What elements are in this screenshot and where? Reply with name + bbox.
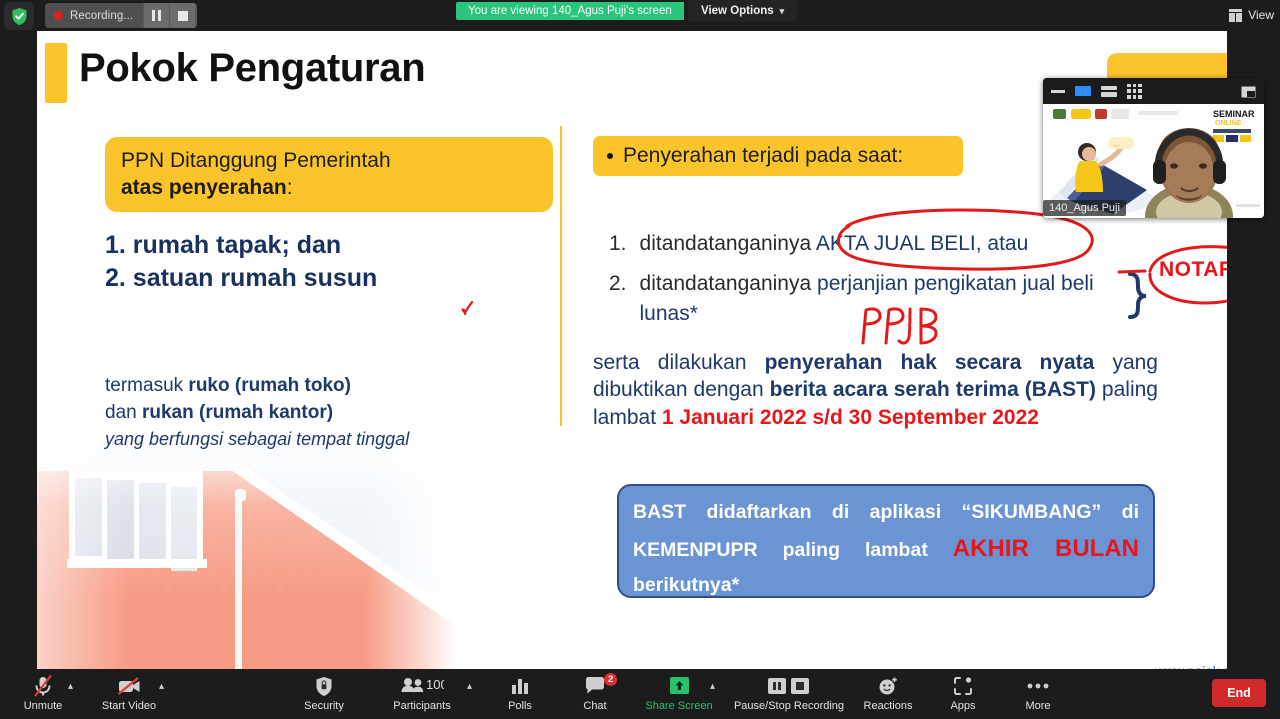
toolbar-unmute-button[interactable]: Unmute bbox=[0, 673, 86, 712]
left-callout-line2: atas penyerahan: bbox=[121, 174, 537, 201]
toolbar-unmute-label: Unmute bbox=[24, 700, 63, 712]
apps-icon bbox=[952, 673, 974, 699]
right-callout-heading: Penyerahan terjadi pada saat: bbox=[623, 144, 903, 168]
toolbar-start-video-label: Start Video bbox=[102, 700, 156, 712]
view-options-button[interactable]: View Options ▾ bbox=[688, 0, 797, 22]
pause-icon bbox=[152, 10, 161, 21]
item-text-blue: AKTA JUAL BELI, atau bbox=[816, 232, 1028, 255]
pause-stop-icon bbox=[767, 673, 811, 699]
bullet-icon bbox=[607, 153, 613, 159]
gallery-two-icon[interactable] bbox=[1101, 86, 1117, 97]
smiley-plus-icon bbox=[877, 673, 899, 699]
top-bar: Recording... You are viewing 140_Agus Pu… bbox=[0, 0, 1280, 31]
item-number: 1. bbox=[609, 229, 627, 259]
left-callout-line1: PPN Ditanggung Pemerintah bbox=[121, 147, 537, 174]
meeting-toolbar: Unmute ▴ Start Video ▴ Secur bbox=[0, 669, 1280, 719]
toolbar-pause-stop-recording-button[interactable]: Pause/Stop Recording bbox=[745, 673, 833, 712]
blue-box-red: AKHIR BULAN bbox=[953, 535, 1139, 562]
para-bold2: berita acara serah terima (BAST) bbox=[770, 378, 1096, 401]
note-line2-bold: rukan (rumah kantor) bbox=[142, 402, 333, 423]
speaker-view-icon[interactable] bbox=[1075, 86, 1091, 96]
chevron-down-icon: ▾ bbox=[780, 6, 785, 17]
toolbar-pause-stop-recording-label: Pause/Stop Recording bbox=[734, 700, 844, 712]
gallery-grid-icon[interactable] bbox=[1127, 84, 1142, 99]
participants-caret-icon[interactable]: ▴ bbox=[467, 681, 472, 692]
red-check-mark-annotation bbox=[461, 301, 473, 315]
left-note-text: termasuk ruko (rumah toko) dan rukan (ru… bbox=[105, 373, 575, 454]
popout-icon[interactable] bbox=[1241, 85, 1256, 97]
left-yellow-callout: PPN Ditanggung Pemerintah atas penyeraha… bbox=[105, 137, 553, 212]
toolbar-reactions-button[interactable]: Reactions bbox=[845, 673, 931, 712]
view-options-label: View Options bbox=[701, 5, 774, 17]
people-icon: 100 bbox=[400, 673, 444, 699]
toolbar-share-screen-button[interactable]: Share Screen bbox=[636, 673, 722, 712]
svg-text:ONLINE: ONLINE bbox=[1215, 120, 1242, 127]
layout-grid-icon bbox=[1229, 9, 1242, 22]
toolbar-more-button[interactable]: More bbox=[995, 673, 1081, 712]
right-yellow-callout: Penyerahan terjadi pada saat: bbox=[593, 136, 963, 176]
toolbar-participants-label: Participants bbox=[393, 700, 450, 712]
blue-box-part2: berikutnya* bbox=[633, 574, 739, 596]
toolbar-polls-label: Polls bbox=[508, 700, 532, 712]
left-callout-line2-bold: atas penyerahan bbox=[121, 176, 287, 199]
recording-label: Recording... bbox=[70, 10, 133, 22]
item-number: 2. bbox=[609, 269, 627, 329]
toolbar-chat-button[interactable]: Chat bbox=[552, 673, 638, 712]
zoom-meeting-window: Recording... You are viewing 140_Agus Pu… bbox=[0, 0, 1280, 719]
toolbar-security-label: Security bbox=[304, 700, 344, 712]
view-layout-button[interactable]: View bbox=[1229, 4, 1274, 26]
pause-recording-button[interactable] bbox=[143, 3, 169, 28]
recording-status: Recording... bbox=[45, 3, 143, 28]
list-item: 1. rumah tapak; dan bbox=[105, 229, 565, 262]
svg-text:100: 100 bbox=[426, 677, 444, 692]
item-text-dark: ditandatanganinya bbox=[640, 232, 816, 255]
note-line1-bold: ruko (rumah toko) bbox=[188, 375, 351, 396]
slide-accent-bar-left bbox=[45, 43, 67, 103]
toolbar-reactions-label: Reactions bbox=[864, 700, 913, 712]
record-dot-icon bbox=[54, 11, 63, 20]
video-feed: SEMINAR ONLINE bbox=[1043, 104, 1264, 218]
list-item: 1. ditandatanganinya AKTA JUAL BELI, ata… bbox=[609, 229, 1129, 259]
item-text-dark: ditandatanganinya bbox=[640, 272, 818, 295]
chat-bubble-icon bbox=[584, 673, 606, 699]
shield-check-icon[interactable] bbox=[4, 2, 34, 30]
toolbar-share-screen-label: Share Screen bbox=[645, 700, 712, 712]
ppjb-annotation bbox=[857, 303, 947, 354]
toolbar-apps-button[interactable]: Apps bbox=[920, 673, 1006, 712]
ellipsis-icon bbox=[1026, 673, 1050, 699]
thumbnail-toolbar bbox=[1043, 78, 1264, 104]
house-photo bbox=[37, 431, 457, 669]
note-line1-plain: termasuk bbox=[105, 375, 188, 396]
share-screen-up-arrow-icon bbox=[667, 673, 692, 699]
unmute-caret-icon[interactable]: ▴ bbox=[68, 681, 73, 692]
stop-recording-button[interactable] bbox=[169, 3, 195, 28]
view-label: View bbox=[1248, 8, 1274, 22]
para-part1: serta dilakukan bbox=[593, 351, 765, 374]
end-meeting-button[interactable]: End bbox=[1212, 679, 1266, 707]
bar-chart-icon bbox=[510, 673, 530, 699]
viewing-screen-banner: You are viewing 140_Agus Puji's screen bbox=[456, 2, 684, 20]
list-item: 2. satuan rumah susun bbox=[105, 262, 565, 295]
toolbar-more-label: More bbox=[1025, 700, 1050, 712]
toolbar-security-button[interactable]: Security bbox=[281, 673, 367, 712]
minimize-icon[interactable] bbox=[1051, 90, 1065, 93]
microphone-muted-icon bbox=[32, 673, 54, 699]
share-screen-caret-icon[interactable]: ▴ bbox=[710, 681, 715, 692]
video-camera-muted-icon bbox=[116, 673, 142, 699]
svg-text:SEMINAR: SEMINAR bbox=[1213, 109, 1255, 119]
start-video-caret-icon[interactable]: ▴ bbox=[159, 681, 164, 692]
blue-callout-box: BAST didaftarkan di aplikasi “SIKUMBANG”… bbox=[617, 484, 1155, 598]
self-video-thumbnail[interactable]: SEMINAR ONLINE bbox=[1043, 78, 1264, 218]
para-red-dates: 1 Januari 2022 s/d 30 September 2022 bbox=[662, 406, 1039, 429]
stop-icon bbox=[178, 11, 188, 21]
recording-indicator: Recording... bbox=[45, 3, 197, 28]
shield-icon bbox=[315, 673, 333, 699]
toolbar-apps-label: Apps bbox=[950, 700, 975, 712]
notaris-annotation: NOTARIS bbox=[1159, 258, 1227, 282]
page-title: Pokok Pengaturan bbox=[79, 46, 425, 91]
item-text: ditandatanganinya AKTA JUAL BELI, atau bbox=[640, 229, 1029, 259]
left-numbered-list: 1. rumah tapak; dan 2. satuan rumah susu… bbox=[105, 229, 565, 295]
toolbar-start-video-button[interactable]: Start Video bbox=[86, 673, 172, 712]
toolbar-polls-button[interactable]: Polls bbox=[477, 673, 563, 712]
participant-name-label: 140_Agus Puji bbox=[1043, 200, 1126, 216]
toolbar-chat-label: Chat bbox=[583, 700, 606, 712]
note-line3-italic: yang berfungsi sebagai tempat tinggal bbox=[105, 429, 409, 449]
note-line2-plain: dan bbox=[105, 402, 142, 423]
right-paragraph: serta dilakukan penyerahan hak secara ny… bbox=[593, 349, 1158, 431]
left-callout-line2-tail: : bbox=[287, 176, 293, 199]
para-bold1: penyerahan hak secara nyata bbox=[765, 351, 1095, 374]
toolbar-participants-button[interactable]: 100 Participants bbox=[379, 673, 465, 712]
svg-text:...: ... bbox=[1113, 139, 1120, 148]
